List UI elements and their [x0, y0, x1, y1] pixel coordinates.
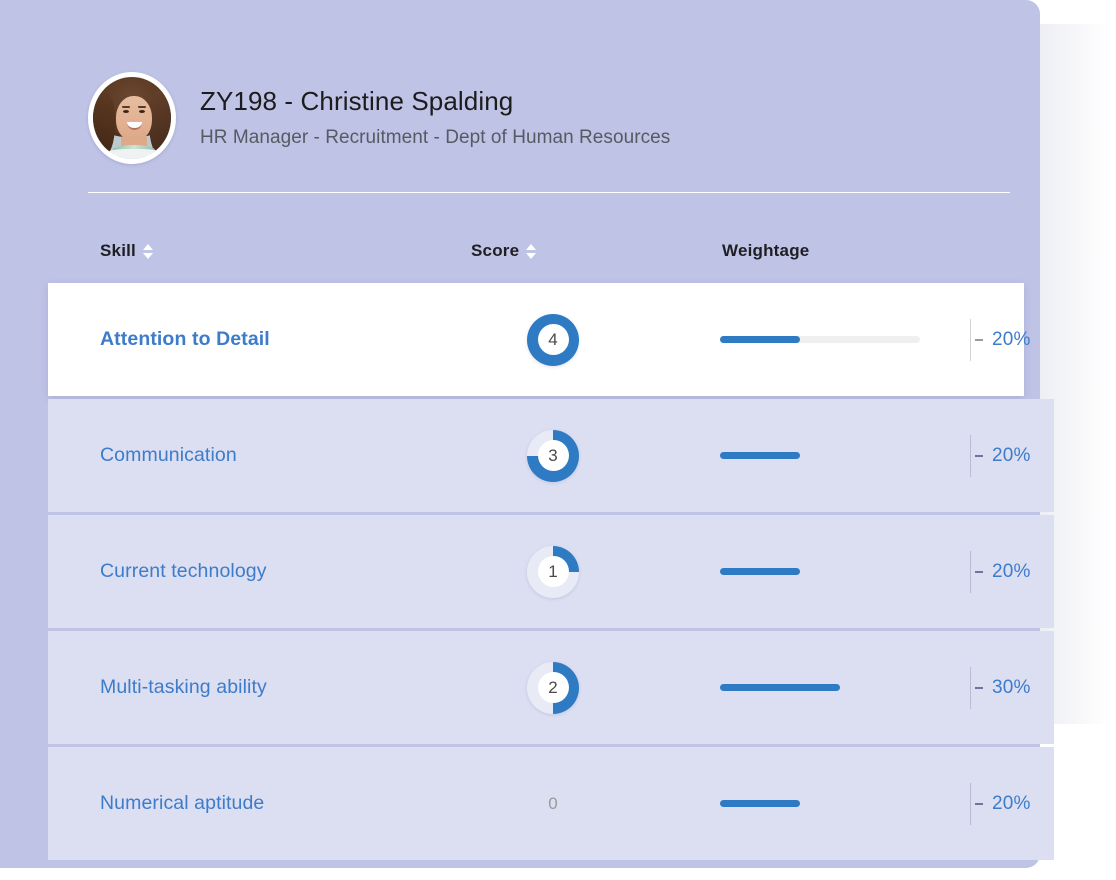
sort-ascending-icon: [526, 244, 536, 250]
weightage-bar-track: [720, 684, 920, 691]
score-donut: 1: [527, 546, 579, 598]
weightage-divider: [970, 667, 971, 709]
weightage-divider: [970, 783, 971, 825]
profile-name: ZY198 - Christine Spalding: [200, 86, 670, 117]
score-donut: 4: [527, 314, 579, 366]
profile-header: ZY198 - Christine Spalding HR Manager - …: [88, 70, 1008, 166]
weightage-cell: 20%: [720, 552, 1040, 592]
score-cell: 1: [525, 544, 581, 600]
weightage-dash-icon: [975, 339, 983, 341]
weightage-value: 20%: [992, 329, 1031, 351]
weightage-value: 30%: [992, 677, 1031, 699]
sort-icon[interactable]: [143, 244, 153, 259]
weightage-divider: [970, 319, 971, 361]
sort-ascending-icon: [143, 244, 153, 250]
weightage-bar-track: [720, 800, 920, 807]
column-header-skill[interactable]: Skill: [100, 241, 153, 261]
weightage-bar-fill: [720, 684, 840, 691]
header-divider: [88, 192, 1010, 193]
profile-subtitle: HR Manager - Recruitment - Dept of Human…: [200, 127, 670, 150]
weightage-value: 20%: [992, 561, 1031, 583]
weightage-bar-fill: [720, 568, 800, 575]
weightage-bar-fill: [720, 336, 800, 343]
profile-text: ZY198 - Christine Spalding HR Manager - …: [200, 86, 670, 150]
score-donut: 2: [527, 662, 579, 714]
score-value: 0: [548, 794, 557, 814]
avatar[interactable]: [88, 72, 176, 164]
weightage-dash-icon: [975, 455, 983, 457]
weightage-dash-icon: [975, 803, 983, 805]
table-row[interactable]: Multi-tasking ability230%: [48, 631, 1054, 744]
score-donut: 3: [527, 430, 579, 482]
weightage-bar-track: [720, 568, 920, 575]
weightage-dash-icon: [975, 571, 983, 573]
weightage-cell: 30%: [720, 668, 1040, 708]
column-header-score[interactable]: Score: [471, 241, 536, 261]
score-value: 2: [538, 672, 569, 703]
score-value: 1: [538, 556, 569, 587]
score-value: 3: [538, 440, 569, 471]
column-header-skill-label: Skill: [100, 241, 136, 261]
weightage-bar-track: [720, 336, 920, 343]
table-row[interactable]: Numerical aptitude020%: [48, 747, 1054, 860]
weightage-cell: 20%: [720, 436, 1040, 476]
table-row[interactable]: Attention to Detail420%: [48, 283, 1024, 396]
table-row[interactable]: Communication320%: [48, 399, 1054, 512]
skill-label[interactable]: Numerical aptitude: [100, 792, 264, 815]
weightage-divider: [970, 551, 971, 593]
sort-descending-icon: [143, 253, 153, 259]
avatar-image: [93, 77, 171, 159]
weightage-cell: 20%: [720, 784, 1040, 824]
skill-label[interactable]: Multi-tasking ability: [100, 676, 267, 699]
weightage-value: 20%: [992, 793, 1031, 815]
weightage-bar-track: [720, 452, 920, 459]
skill-label[interactable]: Communication: [100, 444, 237, 467]
weightage-value: 20%: [992, 445, 1031, 467]
sort-descending-icon: [526, 253, 536, 259]
sort-icon[interactable]: [526, 244, 536, 259]
weightage-divider: [970, 435, 971, 477]
score-cell: 4: [525, 312, 581, 368]
table-row[interactable]: Current technology120%: [48, 515, 1054, 628]
skills-assessment-page: ZY198 - Christine Spalding HR Manager - …: [0, 0, 1116, 880]
skill-label[interactable]: Current technology: [100, 560, 267, 583]
weightage-bar-fill: [720, 800, 800, 807]
skills-table-body: Attention to Detail420%Communication320%…: [48, 283, 1054, 863]
weightage-dash-icon: [975, 687, 983, 689]
score-cell: 0: [525, 776, 581, 832]
weightage-bar-fill: [720, 452, 800, 459]
score-cell: 2: [525, 660, 581, 716]
weightage-cell: 20%: [720, 320, 1040, 360]
column-header-weightage: Weightage: [722, 241, 809, 261]
skill-label[interactable]: Attention to Detail: [100, 328, 270, 351]
column-header-weightage-label: Weightage: [722, 241, 809, 261]
score-cell: 3: [525, 428, 581, 484]
score-value: 4: [538, 324, 569, 355]
column-header-score-label: Score: [471, 241, 519, 261]
